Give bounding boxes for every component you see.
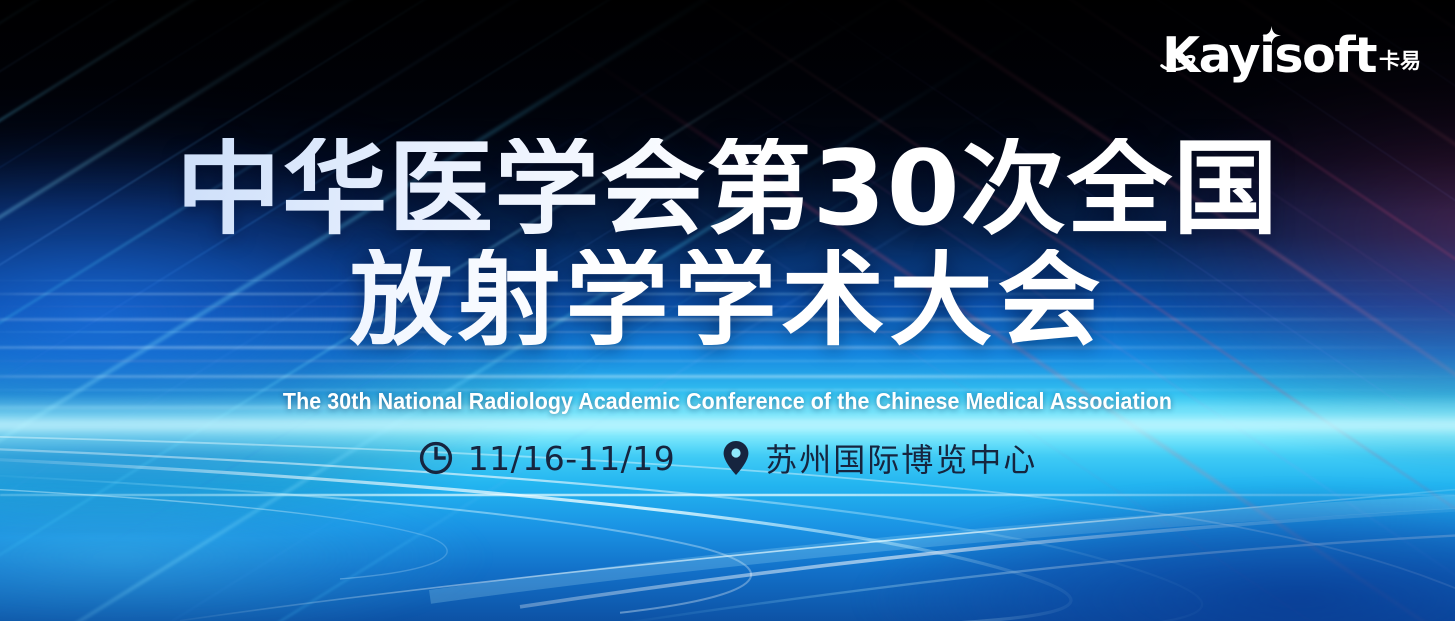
- kayisoft-logo[interactable]: Kayisoft 卡易: [1162, 32, 1421, 80]
- event-date: 11/16-11/19: [418, 439, 676, 478]
- main-title: 中华医学会第30次全国 放射学学术大会: [0, 138, 1455, 352]
- english-subtitle: The 30th National Radiology Academic Con…: [51, 388, 1404, 415]
- event-venue-text: 苏州国际博览中心: [765, 435, 1037, 481]
- event-venue: 苏州国际博览中心: [721, 435, 1037, 481]
- map-pin-icon: [721, 439, 751, 477]
- event-date-text: 11/16-11/19: [468, 439, 676, 478]
- logo-wordmark: Kayisoft: [1162, 32, 1376, 80]
- logo-chinese-name: 卡易: [1379, 45, 1421, 80]
- title-line-2: 放射学学术大会: [0, 249, 1455, 352]
- clock-icon: [418, 440, 454, 476]
- event-info-row: 11/16-11/19 苏州国际博览中心: [0, 435, 1455, 481]
- conference-banner: Kayisoft 卡易 中华医学会第30次全国 放射学学术大会 The 30th…: [0, 0, 1455, 621]
- sparkle-star-icon: [1262, 26, 1281, 47]
- title-line-1: 中华医学会第30次全国: [0, 138, 1455, 241]
